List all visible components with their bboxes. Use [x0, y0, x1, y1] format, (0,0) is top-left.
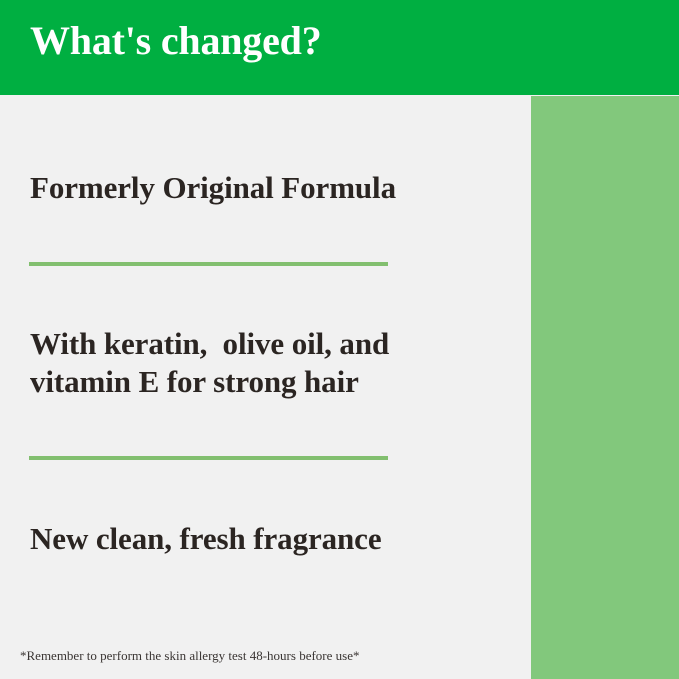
- allergy-test-footnote: *Remember to perform the skin allergy te…: [20, 647, 520, 664]
- feature-content: Formerly Original Formula With keratin, …: [0, 95, 531, 679]
- feature-list: Formerly Original Formula With keratin, …: [0, 95, 531, 558]
- feature-text: New clean, fresh fragrance: [0, 520, 531, 558]
- list-item: New clean, fresh fragrance: [0, 460, 531, 558]
- feature-text: With keratin, olive oil, and vitamin E f…: [0, 325, 531, 401]
- page-title: What's changed?: [30, 17, 322, 65]
- list-item: With keratin, olive oil, and vitamin E f…: [0, 266, 531, 401]
- side-accent-panel: [531, 96, 679, 679]
- header-band: What's changed?: [0, 0, 679, 95]
- product-info-panel: What's changed? Formerly Original Formul…: [0, 0, 679, 679]
- feature-text: Formerly Original Formula: [0, 169, 531, 207]
- list-item: Formerly Original Formula: [0, 95, 531, 207]
